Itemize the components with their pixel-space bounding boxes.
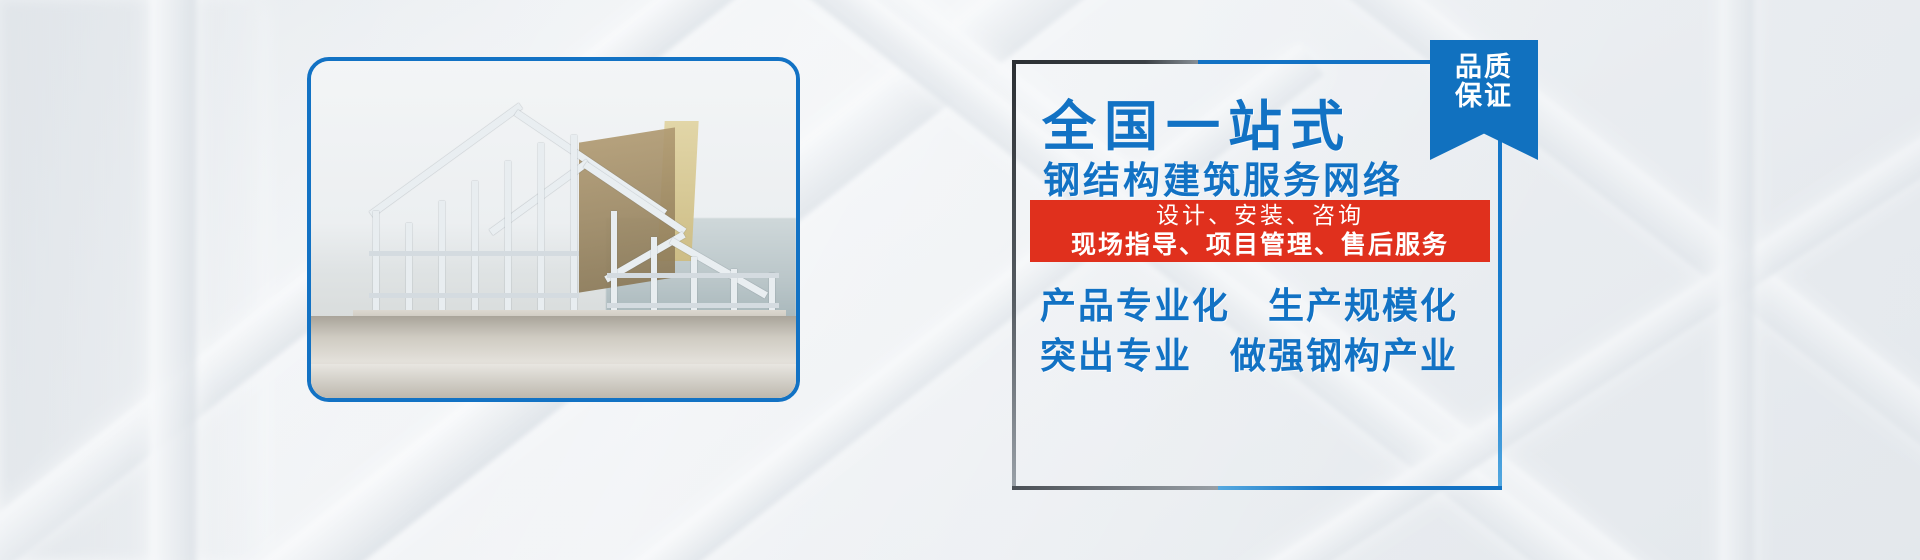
banner-subheadline: 钢结构建筑服务网络 — [1043, 150, 1403, 204]
photo-steel-beam — [369, 293, 579, 298]
services-line-2: 现场指导、项目管理、售后服务 — [1071, 230, 1449, 260]
promo-banner: 品质 保证 全国一站式 钢结构建筑服务网络 设计、安装、咨询 现场指导、项目管理… — [0, 0, 1920, 560]
frame-border-top — [1012, 60, 1202, 64]
frame-border-bottom — [1012, 486, 1222, 490]
slogan-line-2: 突出专业 做强钢构产业 — [1040, 327, 1458, 379]
services-line-1: 设计、安装、咨询 — [1156, 203, 1364, 230]
badge-line-2: 保证 — [1455, 83, 1513, 112]
photo-steel-beam — [607, 303, 779, 308]
background-overlay — [0, 0, 1920, 560]
frame-border-left — [1012, 60, 1016, 490]
photo-steel-beam — [607, 273, 779, 278]
photo-steel-beam — [369, 251, 579, 256]
project-photo-card — [307, 57, 800, 402]
photo-foreground — [311, 364, 796, 398]
frame-border-bottom-accent — [1218, 486, 1502, 490]
badge-line-1: 品质 — [1455, 54, 1513, 83]
slogan-line-1: 产品专业化 生产规模化 — [1040, 277, 1458, 329]
services-band: 设计、安装、咨询 现场指导、项目管理、售后服务 — [1030, 200, 1490, 262]
